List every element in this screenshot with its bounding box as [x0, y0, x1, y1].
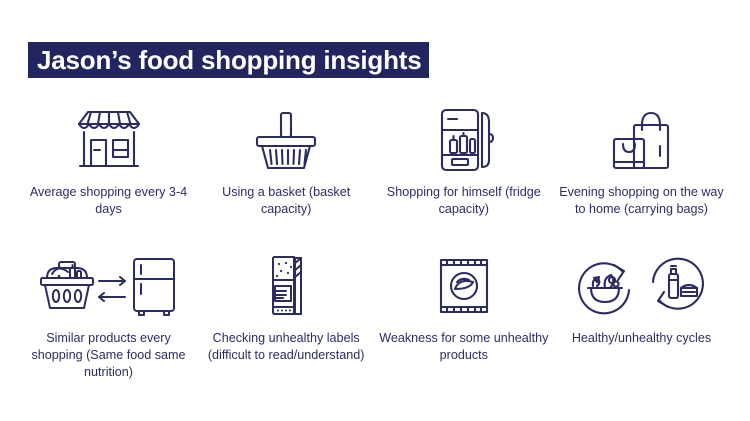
open-fridge-icon [429, 106, 499, 174]
insight-caption: Healthy/unhealthy cycles [572, 330, 711, 347]
snack-bag-icon [426, 252, 502, 320]
nutrition-label-package-icon [258, 252, 314, 320]
storefront-icon [66, 106, 152, 174]
insight-caption: Shopping for himself (fridge capacity) [379, 184, 549, 218]
basket-to-fridge-cycle-icon [33, 252, 185, 320]
insight-cell-checking-labels: Checking unhealthy labels (difficult to … [198, 252, 375, 381]
title-banner: Jason’s food shopping insights [28, 42, 429, 78]
insight-cell-using-basket: Using a basket (basket capacity) [198, 106, 375, 218]
insight-cell-shopping-for-himself: Shopping for himself (fridge capacity) [375, 106, 552, 218]
insight-caption: Using a basket (basket capacity) [201, 184, 371, 218]
insights-row-2: Similar products every shopping (Same fo… [20, 252, 730, 381]
insight-caption: Average shopping every 3-4 days [24, 184, 194, 218]
shopping-basket-icon [247, 106, 325, 174]
insight-caption: Evening shopping on the way to home (car… [553, 184, 729, 218]
insight-caption: Weakness for some unhealthy products [379, 330, 549, 364]
insight-cell-unhealthy-weakness: Weakness for some unhealthy products [375, 252, 552, 381]
shopping-bags-icon [600, 106, 682, 174]
insight-cell-average-shopping: Average shopping every 3-4 days [20, 106, 197, 218]
page-title: Jason’s food shopping insights [37, 47, 421, 73]
insight-caption: Checking unhealthy labels (difficult to … [198, 330, 374, 364]
insight-cell-similar-products: Similar products every shopping (Same fo… [20, 252, 197, 381]
insights-row-1: Average shopping every 3-4 days [20, 106, 730, 218]
insight-cell-healthy-unhealthy-cycles: Healthy/unhealthy cycles [553, 252, 730, 381]
insight-caption: Similar products every shopping (Same fo… [21, 330, 197, 381]
healthy-unhealthy-cycle-icon [571, 252, 711, 320]
infographic-slide: Jason’s food shopping insights [0, 0, 750, 421]
insight-cell-evening-shopping: Evening shopping on the way to home (car… [553, 106, 730, 218]
